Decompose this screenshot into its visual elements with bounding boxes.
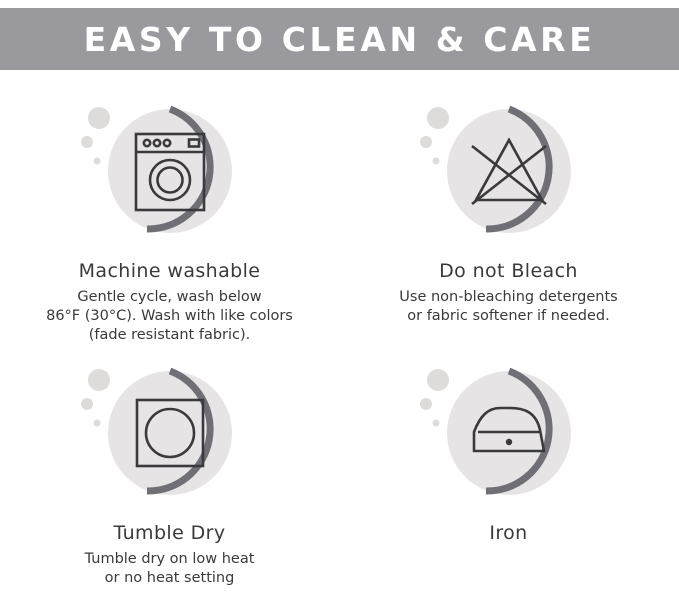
bubble-large-icon xyxy=(427,369,449,391)
bubble-small-icon xyxy=(432,158,439,165)
bubble-large-icon xyxy=(88,369,110,391)
care-item-title: Do not Bleach xyxy=(339,260,678,282)
care-item-description: Tumble dry on low heat or no heat settin… xyxy=(0,550,339,588)
care-item-title: Iron xyxy=(339,522,678,544)
do-not-bleach-art xyxy=(414,88,604,268)
bubble-small-icon xyxy=(432,420,439,427)
care-item-title: Tumble Dry xyxy=(0,522,339,544)
header-banner: EASY TO CLEAN & CARE xyxy=(0,8,679,70)
machine-washable-art xyxy=(75,88,265,268)
care-items-grid: Machine washable Gentle cycle, wash belo… xyxy=(0,74,679,594)
care-item-tumble-dry: Tumble Dry Tumble dry on low heat or no … xyxy=(0,336,339,596)
bubble-medium-icon xyxy=(81,136,93,148)
bubble-large-icon xyxy=(427,107,449,129)
care-item-machine-washable: Machine washable Gentle cycle, wash belo… xyxy=(0,74,339,334)
care-item-title: Machine washable xyxy=(0,260,339,282)
bubble-small-icon xyxy=(93,420,100,427)
page-title: EASY TO CLEAN & CARE xyxy=(84,20,596,59)
iron-art xyxy=(414,350,604,530)
bubble-small-icon xyxy=(93,158,100,165)
bubble-medium-icon xyxy=(420,136,432,148)
care-item-do-not-bleach: Do not Bleach Use non-bleaching detergen… xyxy=(339,74,678,334)
care-instructions-infographic: EASY TO CLEAN & CARE xyxy=(0,0,679,594)
bubble-medium-icon xyxy=(420,398,432,410)
tumble-dry-art xyxy=(75,350,265,530)
care-item-description: Use non-bleaching detergents or fabric s… xyxy=(339,288,678,326)
care-item-iron: Iron xyxy=(339,336,678,596)
bubble-medium-icon xyxy=(81,398,93,410)
bubble-large-icon xyxy=(88,107,110,129)
